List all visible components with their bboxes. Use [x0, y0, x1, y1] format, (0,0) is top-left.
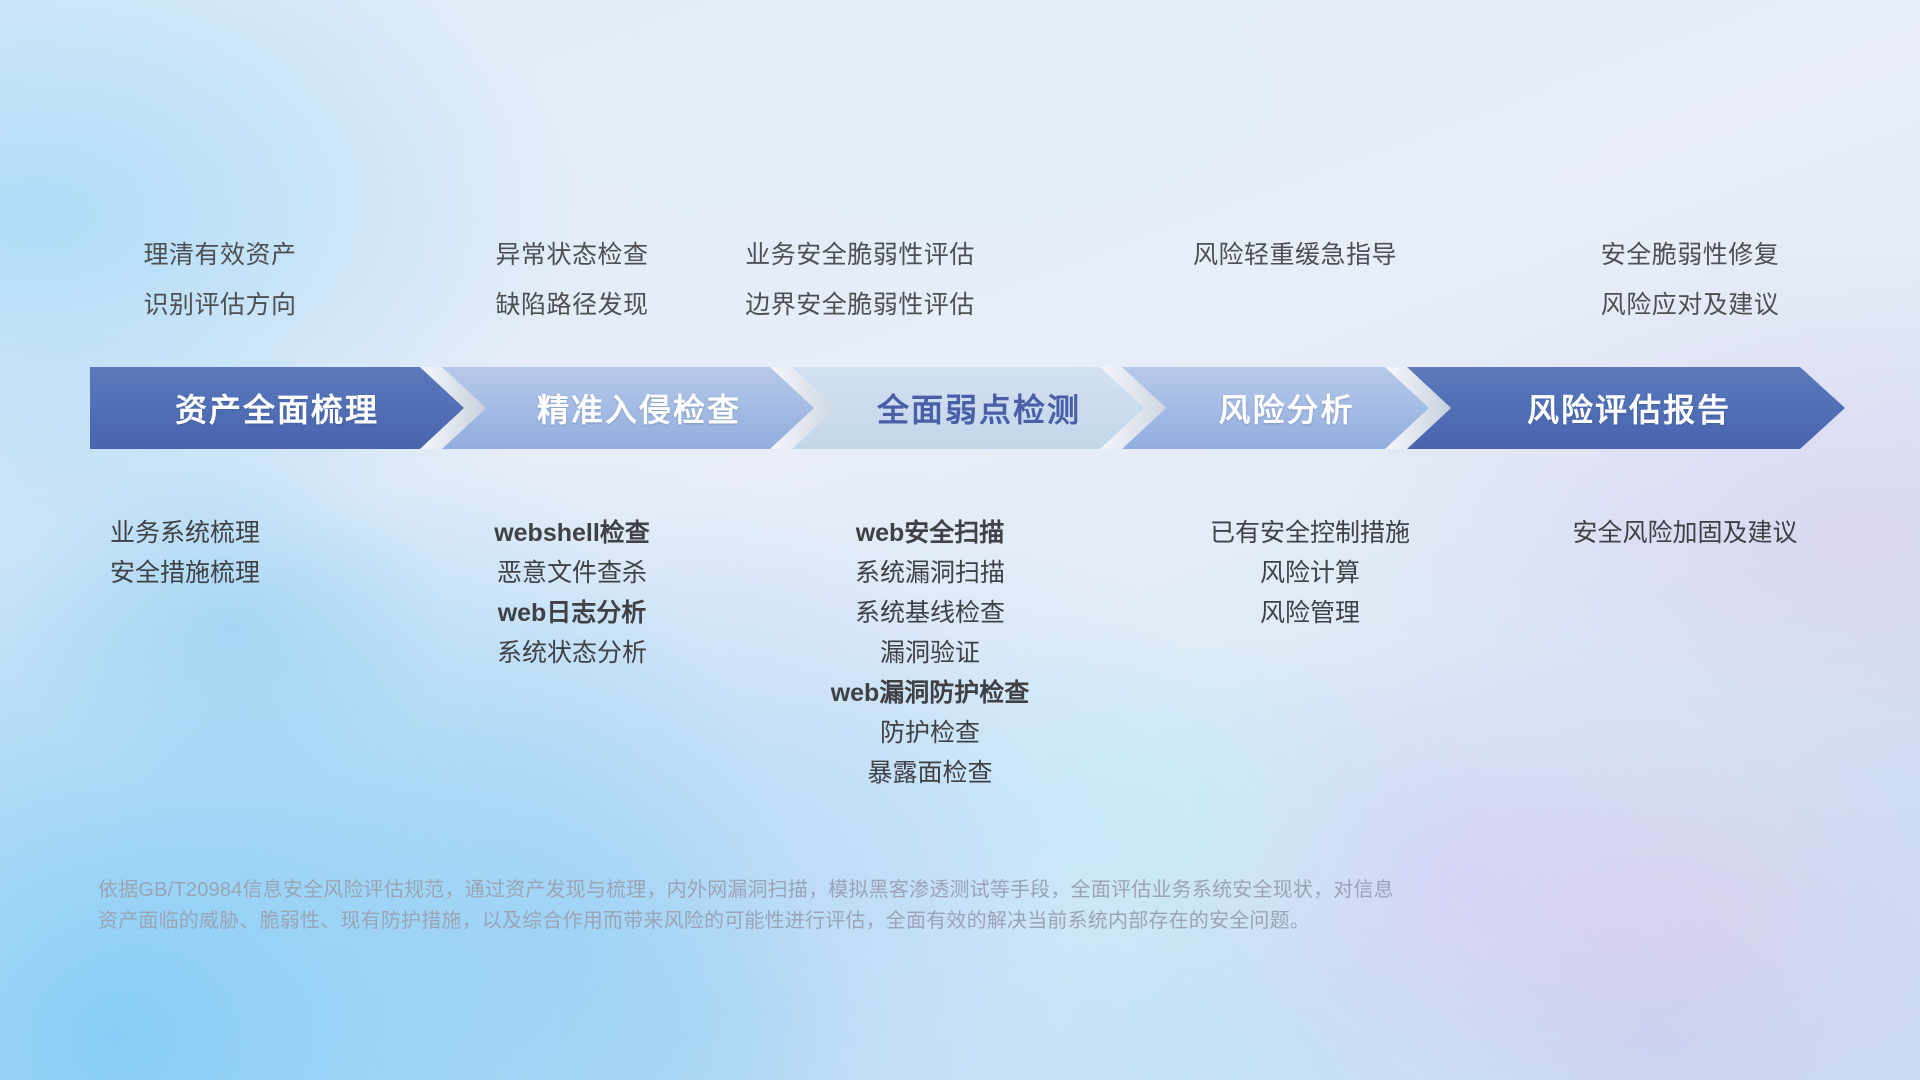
stage-items-5: 安全风险加固及建议 — [1455, 513, 1915, 553]
footer-line: 依据GB/T20984信息安全风险评估规范，通过资产发现与梳理，内外网漏洞扫描，… — [98, 875, 1758, 906]
stage-label-3[interactable]: 全面弱点检测 — [814, 367, 1144, 449]
stage-items-1: 业务系统梳理 安全措施梳理 — [0, 513, 385, 593]
stage-items-3: web安全扫描 系统漏洞扫描 系统基线检查 漏洞验证 web漏洞防护检查 防护检… — [730, 513, 1130, 793]
stage-label-4[interactable]: 风险分析 — [1144, 367, 1429, 449]
caption-line: 边界安全脆弱性评估 — [640, 280, 1080, 330]
item-text: 安全措施梳理 — [0, 553, 385, 593]
stage-items-4: 已有安全控制措施 风险计算 风险管理 — [1110, 513, 1510, 633]
stage-items-2: webshell检查 恶意文件查杀 web日志分析 系统状态分析 — [372, 513, 772, 673]
stage-top-caption-1: 理清有效资产 识别评估方向 — [20, 230, 420, 330]
item-text: 系统漏洞扫描 — [730, 553, 1130, 593]
footer-description: 依据GB/T20984信息安全风险评估规范，通过资产发现与梳理，内外网漏洞扫描，… — [98, 875, 1758, 937]
item-text: 恶意文件查杀 — [372, 553, 772, 593]
process-diagram: 理清有效资产 识别评估方向 异常状态检查 缺陷路径发现 业务安全脆弱性评估 边界… — [0, 0, 1920, 1080]
caption-line: 风险轻重缓急指导 — [1075, 230, 1515, 280]
stage-label-text: 全面弱点检测 — [877, 385, 1081, 431]
item-text: 风险管理 — [1110, 593, 1510, 633]
item-text: 暴露面检查 — [730, 753, 1130, 793]
item-text: web日志分析 — [372, 593, 772, 633]
stage-label-1[interactable]: 资产全面梳理 — [90, 367, 464, 449]
stage-label-text: 精准入侵检查 — [537, 385, 741, 431]
footer-line: 资产面临的威胁、脆弱性、现有防护措施，以及综合作用而带来风险的可能性进行评估，全… — [98, 906, 1758, 937]
item-text: web漏洞防护检查 — [730, 673, 1130, 713]
item-text: 安全风险加固及建议 — [1455, 513, 1915, 553]
stage-label-2[interactable]: 精准入侵检查 — [464, 367, 814, 449]
item-text: 业务系统梳理 — [0, 513, 385, 553]
stage-label-text: 风险分析 — [1218, 385, 1354, 431]
stage-top-caption-5: 安全脆弱性修复 风险应对及建议 — [1480, 230, 1900, 330]
stage-top-caption-4: 风险轻重缓急指导 — [1075, 230, 1515, 280]
caption-line: 识别评估方向 — [20, 280, 420, 330]
item-text: 漏洞验证 — [730, 633, 1130, 673]
item-text: 系统基线检查 — [730, 593, 1130, 633]
caption-line: 理清有效资产 — [20, 230, 420, 280]
item-text: 系统状态分析 — [372, 633, 772, 673]
item-text: web安全扫描 — [730, 513, 1130, 553]
caption-line: 风险应对及建议 — [1480, 280, 1900, 330]
item-text: webshell检查 — [372, 513, 772, 553]
stage-label-5[interactable]: 风险评估报告 — [1429, 367, 1829, 449]
item-text: 防护检查 — [730, 713, 1130, 753]
item-text: 已有安全控制措施 — [1110, 513, 1510, 553]
process-arrow-band: 资产全面梳理 精准入侵检查 全面弱点检测 风险分析 风险评估报告 — [90, 367, 1845, 449]
caption-line: 业务安全脆弱性评估 — [640, 230, 1080, 280]
item-text: 风险计算 — [1110, 553, 1510, 593]
stage-label-text: 资产全面梳理 — [175, 385, 379, 431]
caption-line: 安全脆弱性修复 — [1480, 230, 1900, 280]
stage-top-caption-3: 业务安全脆弱性评估 边界安全脆弱性评估 — [640, 230, 1080, 330]
stage-label-text: 风险评估报告 — [1527, 385, 1731, 431]
